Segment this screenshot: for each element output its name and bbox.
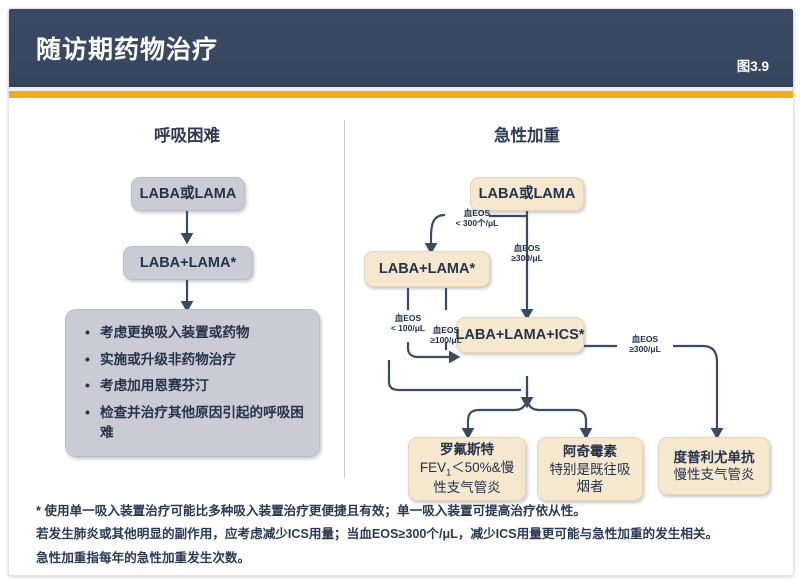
- edge-label-line2: ≥100/μL: [415, 335, 477, 345]
- edge-label-line2: ≥300/μL: [496, 253, 558, 263]
- node-left-actions[interactable]: 考虑更换吸入装置或药物 实施或升级非药物治疗 考虑加用恩赛芬汀 检查并治疗其他原…: [65, 309, 320, 457]
- footnotes: * 使用单一吸入装置治疗可能比多种吸入装置治疗更便捷且有效；单一吸入装置可提高治…: [36, 502, 766, 572]
- action-list: 考虑更换吸入装置或药物 实施或升级非药物治疗 考虑加用恩赛芬汀 检查并治疗其他原…: [84, 323, 305, 443]
- figure-header: 随访期药物治疗 图3.9: [9, 9, 793, 87]
- node-left-laba-lama[interactable]: LABA+LAMA*: [123, 246, 253, 280]
- edge-label-eos-ge100: 血EOS ≥100/μL: [415, 325, 477, 345]
- outcome-sub-line1: 特别是既往吸: [550, 461, 631, 478]
- edge-label-eos-ge300-top: 血EOS ≥300/μL: [496, 243, 558, 263]
- edge-label-line1: 血EOS: [377, 313, 439, 323]
- edge-label-line1: 血EOS: [496, 243, 558, 253]
- edge-right-to-dual: [431, 215, 445, 250]
- edge-label-line1: 血EOS: [415, 325, 477, 335]
- node-label: LABA+LAMA*: [140, 254, 236, 272]
- node-outcome-dupilumab[interactable]: 度普利尤单抗 慢性支气管炎: [658, 437, 770, 495]
- header-accent-bar: [9, 91, 793, 98]
- footnote-line-3: 急性加重指每年的急性加重发生次数。: [36, 549, 766, 567]
- node-label: LABA或LAMA: [140, 185, 237, 203]
- list-item: 检查并治疗其他原因引起的呼吸困难: [84, 403, 305, 442]
- list-item: 考虑加用恩赛芬汀: [84, 376, 305, 396]
- list-item: 考虑更换吸入装置或药物: [84, 323, 305, 343]
- column-divider: [344, 120, 345, 478]
- outcome-title: 度普利尤单抗: [674, 449, 755, 467]
- column-heading-dyspnea: 呼吸困难: [127, 122, 247, 146]
- figure-card: 随访期药物治疗 图3.9: [8, 8, 794, 576]
- edge-to-azithromycin: [527, 398, 586, 435]
- node-left-laba-or-lama[interactable]: LABA或LAMA: [131, 177, 245, 211]
- node-label: LABA或LAMA: [479, 185, 576, 203]
- outcome-title: 阿奇霉素: [563, 443, 617, 461]
- footnote-line-1: * 使用单一吸入装置治疗可能比多种吸入装置治疗更便捷且有效；单一吸入装置可提高治…: [36, 502, 766, 520]
- edge-label-line2: ≥300/μL: [614, 344, 676, 354]
- figure-body: 呼吸困难 LABA或LAMA LABA+LAMA* 考虑更换吸入装置或药物 实施…: [9, 98, 793, 575]
- outcome-sub-line1: 慢性支气管炎: [674, 466, 755, 483]
- edge-return-loop: [389, 360, 521, 390]
- outcome-sub-line2: 性支气管炎: [433, 479, 501, 496]
- outcome-sub-line2: 烟者: [577, 478, 604, 495]
- edge-label-eos-lt300: 血EOS < 300个/μL: [444, 208, 510, 228]
- figure-number: 图3.9: [737, 55, 769, 75]
- node-label: LABA+LAMA*: [379, 260, 475, 278]
- node-outcome-roflumilast[interactable]: 罗氟斯特 FEV1＜50%&慢 性支气管炎: [408, 437, 526, 501]
- edge-label-line2: < 300个/μL: [444, 218, 510, 228]
- edge-label-line1: 血EOS: [614, 334, 676, 344]
- figure-page: 随访期药物治疗 图3.9: [0, 0, 800, 582]
- edge-to-dupilumab: [673, 346, 717, 435]
- node-outcome-azithromycin[interactable]: 阿奇霉素 特别是既往吸 烟者: [537, 437, 643, 501]
- node-right-laba-lama[interactable]: LABA+LAMA*: [364, 251, 490, 287]
- edge-to-roflumilast: [468, 398, 527, 435]
- edge-label-eos-ge300-right: 血EOS ≥300/μL: [614, 334, 676, 354]
- page-title: 随访期药物治疗: [36, 30, 218, 66]
- list-item: 实施或升级非药物治疗: [84, 350, 305, 370]
- outcome-sub-line1: FEV1＜50%&慢: [420, 459, 514, 479]
- edge-label-line1: 血EOS: [444, 208, 510, 218]
- node-right-laba-or-lama[interactable]: LABA或LAMA: [470, 177, 584, 211]
- column-heading-exacerbations: 急性加重: [467, 122, 587, 146]
- outcome-title: 罗氟斯特: [440, 441, 494, 459]
- footnote-line-2: 若发生肺炎或其他明显的副作用，应考虑减少ICS用量；当血EOS≥300个/μL，…: [36, 525, 766, 543]
